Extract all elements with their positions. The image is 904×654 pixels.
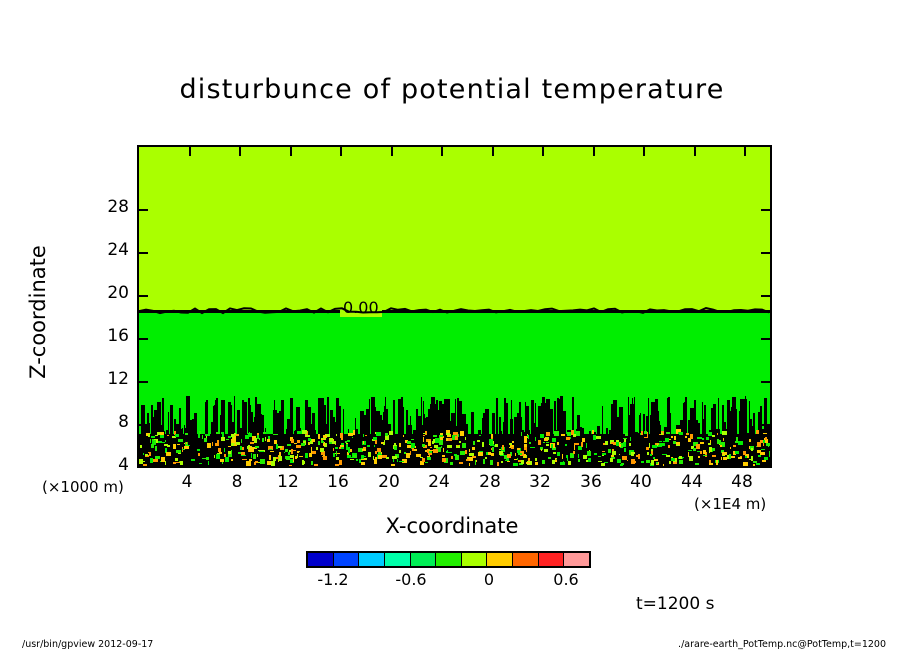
turbulence-cell <box>205 434 210 437</box>
turbulence-cell <box>178 439 182 442</box>
turbulence-cell <box>423 437 425 442</box>
turbulence-cell <box>199 463 202 464</box>
turbulence-cell <box>460 431 464 436</box>
turbulence-cell <box>586 460 589 462</box>
turbulence-cell <box>303 461 306 464</box>
turbulence-cell <box>608 449 611 453</box>
y-tick-mark <box>139 252 148 254</box>
turbulence-cell <box>446 433 451 435</box>
turbulence-cell <box>286 456 290 460</box>
turbulence-cell <box>697 451 701 452</box>
turbulence-cell <box>198 453 201 456</box>
turbulence-cell <box>186 442 188 445</box>
y-tick-label: 12 <box>107 369 129 389</box>
turbulence-cell <box>733 445 736 447</box>
turbulence-cell <box>497 462 499 466</box>
turbulence-cell <box>267 439 270 443</box>
turbulence-cell <box>228 446 232 447</box>
turbulence-cell <box>706 437 709 440</box>
turbulence-cell <box>696 444 700 449</box>
turbulence-cell <box>542 460 545 464</box>
turbulence-cell <box>763 433 767 434</box>
turbulence-cell <box>562 454 563 459</box>
x-tick-label: 24 <box>428 472 450 492</box>
turbulence-cell <box>554 431 558 435</box>
turbulence-cell <box>442 455 445 457</box>
turbulence-cell <box>262 438 264 442</box>
turbulence-cell <box>749 439 752 442</box>
turbulence-cell <box>140 445 142 448</box>
turbulence-cell <box>240 446 242 450</box>
turbulence-cell <box>374 459 377 464</box>
turbulence-cell <box>553 452 557 454</box>
turbulence-cell <box>501 461 504 463</box>
turbulence-cell <box>488 452 491 455</box>
turbulence-plume <box>619 408 620 466</box>
turbulence-cell <box>442 458 446 463</box>
turbulence-plume <box>318 398 322 466</box>
turbulence-cell <box>573 434 577 437</box>
turbulence-cell <box>145 454 148 456</box>
turbulence-cell <box>270 451 275 453</box>
turbulence-cell <box>462 443 466 448</box>
turbulence-cell <box>348 449 351 453</box>
turbulence-cell <box>751 448 754 450</box>
turbulence-cell <box>386 457 389 459</box>
turbulence-cell <box>448 438 452 440</box>
turbulence-plume <box>764 398 767 466</box>
turbulence-cell <box>561 434 565 436</box>
turbulence-cell <box>723 440 725 441</box>
x-tick-label: 8 <box>232 472 243 492</box>
turbulence-cell <box>430 447 432 449</box>
turbulence-cell <box>517 448 520 450</box>
turbulence-cell <box>255 446 259 448</box>
turbulence-cell <box>709 463 713 464</box>
turbulence-cell <box>479 435 481 437</box>
turbulence-cell <box>668 439 671 441</box>
turbulence-cell <box>671 458 675 461</box>
turbulence-cell <box>602 451 605 452</box>
turbulence-cell <box>434 445 438 448</box>
turbulence-plume <box>168 412 170 467</box>
turbulence-cell <box>491 453 494 455</box>
turbulence-cell <box>560 462 565 466</box>
turbulence-cell <box>583 455 587 460</box>
turbulence-cell <box>191 459 196 461</box>
turbulence-cell <box>668 445 671 449</box>
x-tick-label: 40 <box>630 472 652 492</box>
zero-contour-line <box>139 310 770 313</box>
x-tick-label: 44 <box>681 472 703 492</box>
turbulence-cell <box>430 442 431 445</box>
turbulence-plume <box>694 400 696 466</box>
colorbar-swatch[interactable] <box>462 553 488 566</box>
turbulence-cell <box>546 432 550 436</box>
y-tick-label: 20 <box>107 283 129 303</box>
turbulence-cell <box>316 447 317 450</box>
y-tick-mark <box>139 209 148 211</box>
turbulence-cell <box>673 462 677 464</box>
turbulence-cell <box>217 440 219 444</box>
turbulence-cell <box>661 443 665 446</box>
turbulence-cell <box>231 444 234 446</box>
turbulence-cell <box>586 443 587 448</box>
turbulence-cell <box>679 460 683 464</box>
turbulence-cell <box>427 457 432 460</box>
turbulence-cell <box>573 451 576 454</box>
turbulence-cell <box>251 453 253 458</box>
turbulence-cell <box>611 442 615 444</box>
turbulence-cell <box>738 441 743 445</box>
colorbar-swatch[interactable] <box>513 553 539 566</box>
turbulence-cell <box>745 456 747 458</box>
colorbar-swatch[interactable] <box>436 553 462 566</box>
turbulence-cell <box>258 462 260 463</box>
turbulence-cell <box>731 456 736 458</box>
turbulence-plume <box>542 397 546 466</box>
turbulence-cell <box>362 449 366 451</box>
x-tick-label: 48 <box>731 472 753 492</box>
turbulence-cell <box>507 454 511 458</box>
turbulence-cell <box>588 458 591 462</box>
x-tick-label: 32 <box>529 472 551 492</box>
turbulence-cell <box>693 448 696 451</box>
turbulence-cell <box>582 438 586 443</box>
turbulence-cell <box>234 433 237 435</box>
turbulence-cell <box>368 452 371 457</box>
turbulence-cell <box>241 439 243 443</box>
turbulence-cell <box>274 440 277 444</box>
turbulence-cell <box>269 449 271 450</box>
turbulence-cell <box>356 459 358 461</box>
colorbar-swatch[interactable] <box>385 553 411 566</box>
turbulence-cell <box>551 444 553 448</box>
turbulence-cell <box>143 453 145 454</box>
turbulence-cell <box>605 441 608 446</box>
colorbar-swatch[interactable] <box>411 553 437 566</box>
turbulence-cell <box>656 462 659 464</box>
turbulence-cell <box>528 458 530 461</box>
x-tick-label: 28 <box>479 472 501 492</box>
turbulence-cell <box>610 458 613 462</box>
colorbar-swatch[interactable] <box>539 553 565 566</box>
turbulence-cell <box>720 442 724 445</box>
turbulence-cell <box>627 460 628 462</box>
turbulence-cell <box>366 458 367 460</box>
turbulence-cell <box>638 454 640 459</box>
turbulence-cell <box>361 455 364 460</box>
turbulence-cell <box>224 448 225 452</box>
turbulence-cell <box>353 430 355 435</box>
turbulence-cell <box>202 435 203 439</box>
turbulence-cell <box>150 458 153 463</box>
turbulence-cell <box>671 436 673 438</box>
turbulence-cell <box>517 458 518 459</box>
turbulence-cell <box>202 458 207 459</box>
turbulence-cell <box>557 442 560 445</box>
turbulence-cell <box>465 450 467 454</box>
turbulence-cell <box>143 464 146 466</box>
turbulence-plume <box>496 398 498 467</box>
turbulence-cell <box>657 443 658 446</box>
turbulence-cell <box>255 461 258 464</box>
y-tick-mark-right <box>761 467 770 468</box>
turbulence-cell <box>167 435 169 436</box>
turbulence-cell <box>142 461 146 462</box>
turbulence-cell <box>378 455 382 460</box>
turbulence-cell <box>376 432 381 436</box>
turbulence-cell <box>653 457 655 460</box>
turbulence-cell <box>515 453 517 456</box>
turbulence-cell <box>184 446 189 450</box>
turbulence-plume <box>499 417 501 466</box>
turbulence-cell <box>623 442 626 447</box>
turbulence-cell <box>340 433 343 438</box>
turbulence-cell <box>297 440 300 443</box>
turbulence-cell <box>177 444 180 445</box>
turbulence-cell <box>544 449 548 452</box>
turbulence-cell <box>702 438 705 440</box>
turbulence-cell <box>399 461 404 463</box>
turbulence-cell <box>385 433 388 436</box>
turbulence-cell <box>443 448 444 452</box>
y-tick-mark <box>139 467 148 468</box>
turbulence-cell <box>226 439 229 440</box>
turbulence-cell <box>535 437 536 441</box>
turbulence-cell <box>232 435 234 439</box>
turbulence-cell <box>505 460 509 462</box>
turbulence-cell <box>568 461 571 464</box>
stable-upper-layer-region <box>139 147 770 311</box>
turbulence-cell <box>425 462 429 464</box>
x-tick-mark-top <box>744 147 746 156</box>
turbulence-cell <box>495 444 499 447</box>
turbulence-cell <box>158 441 162 443</box>
turbulence-cell <box>552 438 556 442</box>
x-tick-mark-top <box>593 147 595 156</box>
turbulence-cell <box>469 453 474 456</box>
turbulence-cell <box>512 441 514 443</box>
x-tick-label: 20 <box>378 472 400 492</box>
turbulence-cell <box>651 449 654 452</box>
turbulence-cell <box>289 465 292 466</box>
y-tick-mark <box>139 381 148 383</box>
turbulence-cell <box>406 453 410 458</box>
turbulence-cell <box>492 447 493 452</box>
footer-command-info: /usr/bin/gpview 2012-09-17 <box>22 639 153 650</box>
turbulence-cell <box>578 446 582 450</box>
turbulence-cell <box>242 459 247 460</box>
turbulence-cell <box>414 449 417 451</box>
turbulence-cell <box>753 464 755 466</box>
turbulence-cell <box>451 456 453 460</box>
turbulence-plume <box>685 397 686 466</box>
turbulence-cell <box>155 435 158 436</box>
turbulence-cell <box>347 440 350 441</box>
turbulence-cell <box>570 437 571 438</box>
turbulence-cell <box>499 451 504 455</box>
turbulence-cell <box>768 445 769 446</box>
turbulence-cell <box>666 432 670 435</box>
turbulence-cell <box>299 456 303 457</box>
turbulence-cell <box>197 449 200 452</box>
colorbar-tick-label: -0.6 <box>395 570 426 589</box>
x-tick-mark-top <box>189 147 191 156</box>
turbulence-cell <box>651 460 654 465</box>
colorbar-swatch[interactable] <box>359 553 385 566</box>
turbulence-cell <box>565 444 567 446</box>
turbulence-cell <box>543 442 545 443</box>
turbulence-cell <box>155 446 158 451</box>
x-tick-mark-top <box>441 147 443 156</box>
z-axis-unit-label: (×1000 m) <box>42 478 124 496</box>
colorbar-swatch[interactable] <box>308 553 334 566</box>
turbulence-cell <box>620 464 623 466</box>
turbulence-cell <box>185 433 188 435</box>
turbulence-cell <box>644 431 647 434</box>
turbulence-cell <box>535 462 538 465</box>
turbulence-cell <box>311 461 313 465</box>
turbulence-cell <box>297 451 299 453</box>
turbulence-cell <box>511 447 515 449</box>
turbulence-cell <box>367 445 370 447</box>
turbulence-cell <box>333 448 334 451</box>
turbulence-cell <box>510 445 514 447</box>
turbulence-cell <box>598 461 602 462</box>
turbulence-cell <box>363 441 365 444</box>
turbulence-cell <box>698 456 700 458</box>
turbulence-cell <box>254 438 257 443</box>
turbulence-cell <box>700 442 704 444</box>
turbulence-cell <box>716 460 718 464</box>
turbulence-cell <box>375 451 377 454</box>
turbulence-cell <box>529 442 531 445</box>
turbulence-cell <box>491 434 494 438</box>
x-tick-label: 12 <box>277 472 299 492</box>
contour-value-label: 0.00 <box>340 298 382 317</box>
turbulence-cell <box>433 449 438 453</box>
colorbar-swatches[interactable] <box>306 551 591 568</box>
turbulence-cell <box>690 434 692 439</box>
turbulence-cell <box>587 451 592 456</box>
turbulence-cell <box>764 457 768 460</box>
turbulence-cell <box>411 443 415 448</box>
turbulence-cell <box>216 432 221 434</box>
turbulence-cell <box>215 443 219 446</box>
y-tick-mark <box>139 424 148 426</box>
turbulence-cell <box>253 454 256 459</box>
turbulence-plume <box>431 397 435 466</box>
turbulence-cell <box>650 454 652 456</box>
turbulence-cell <box>311 451 316 454</box>
turbulence-cell <box>475 460 476 465</box>
turbulence-cell <box>276 457 279 460</box>
y-tick-label: 24 <box>107 240 129 260</box>
turbulence-cell <box>295 456 297 460</box>
turbulence-cell <box>521 432 522 436</box>
turbulence-cell <box>686 433 689 435</box>
turbulence-cell <box>490 444 494 446</box>
x-tick-label: 36 <box>580 472 602 492</box>
turbulence-cell <box>544 438 548 442</box>
turbulence-cell <box>308 438 311 441</box>
turbulence-cell <box>433 435 438 437</box>
turbulence-cell <box>630 437 631 440</box>
turbulence-cell <box>712 455 716 457</box>
time-annotation: t=1200 s <box>636 594 714 614</box>
turbulence-cell <box>483 459 485 464</box>
turbulence-cell <box>391 464 395 466</box>
turbulence-cell <box>164 444 168 447</box>
colorbar-swatch[interactable] <box>564 553 589 566</box>
turbulence-cell <box>546 442 549 443</box>
turbulence-cell <box>399 450 401 453</box>
turbulence-cell <box>345 441 347 443</box>
colorbar-swatch[interactable] <box>487 553 513 566</box>
turbulence-plume <box>628 397 630 466</box>
turbulence-cell <box>263 432 266 434</box>
turbulence-cell <box>593 435 596 440</box>
turbulence-cell <box>708 443 712 446</box>
turbulence-plume <box>646 416 649 467</box>
turbulence-plume <box>416 409 418 466</box>
turbulence-cell <box>246 461 251 466</box>
turbulence-cell <box>619 454 620 455</box>
turbulence-cell <box>222 461 223 463</box>
turbulence-cell <box>589 450 590 452</box>
turbulence-cell <box>457 445 459 446</box>
y-tick-label: 28 <box>107 197 129 217</box>
turbulence-cell <box>763 443 764 445</box>
turbulence-cell <box>287 444 291 446</box>
y-tick-mark <box>139 295 148 297</box>
turbulence-cell <box>455 455 459 460</box>
turbulence-cell <box>249 447 253 452</box>
turbulence-cell <box>224 454 226 458</box>
turbulence-cell <box>695 463 700 464</box>
turbulence-cell <box>207 443 211 447</box>
turbulence-cell <box>320 448 325 451</box>
turbulence-cell <box>469 463 470 466</box>
turbulence-cell <box>225 457 230 462</box>
colorbar-swatch[interactable] <box>334 553 360 566</box>
x-tick-mark-top <box>391 147 393 156</box>
turbulence-cell <box>612 449 614 451</box>
turbulence-cell <box>646 447 650 449</box>
turbulence-cell <box>447 445 452 448</box>
x-axis-unit-label: (×1E4 m) <box>694 495 766 513</box>
turbulence-cell <box>394 446 397 450</box>
y-tick-mark-right <box>761 424 770 426</box>
colorbar-legend[interactable] <box>306 551 591 568</box>
turbulence-cell <box>541 449 542 451</box>
turbulence-cell <box>271 461 274 465</box>
turbulence-cell <box>548 457 551 459</box>
turbulence-cell <box>743 451 746 455</box>
turbulence-cell <box>374 445 375 447</box>
turbulence-cell <box>502 445 504 450</box>
plot-area[interactable]: 0.00 <box>137 145 772 468</box>
turbulence-cell <box>465 437 467 440</box>
turbulence-cell <box>738 457 742 459</box>
turbulence-cell <box>279 452 281 456</box>
turbulence-cell <box>712 435 715 438</box>
turbulence-cell <box>318 441 320 444</box>
turbulence-cell <box>323 435 327 438</box>
turbulence-cell <box>148 434 150 437</box>
turbulence-cell <box>490 460 492 465</box>
